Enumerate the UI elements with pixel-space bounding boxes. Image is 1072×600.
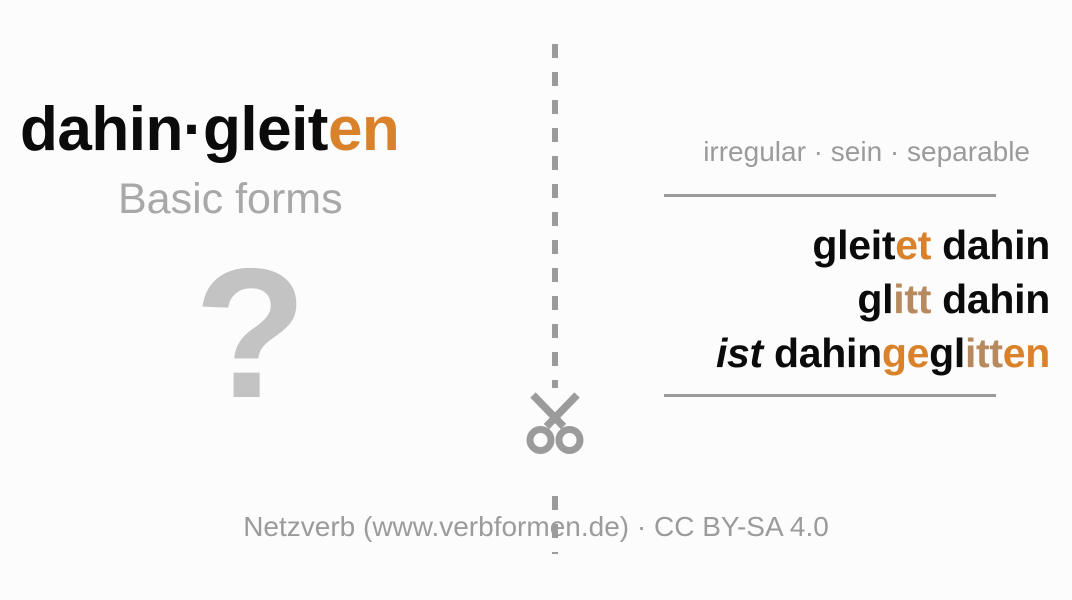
verb-title: dahin·gleiten — [20, 99, 399, 161]
verb-title-stem: dahin — [20, 95, 183, 164]
answer-side: irregular · sein · separable gleitet dah… — [600, 0, 1072, 600]
past-form: glitt dahin — [620, 272, 1050, 326]
perfect-form-seg-4: itt — [965, 330, 1003, 376]
verb-title-middle: gleit — [203, 95, 328, 164]
scissors-icon — [519, 386, 591, 458]
perfect-form-seg-3: gl — [929, 330, 965, 376]
perfect-form-seg-2: ge — [882, 330, 929, 376]
verb-title-ending: en — [328, 95, 399, 164]
verb-forms-list: gleitet dahin glitt dahin ist dahingegli… — [620, 218, 1050, 380]
footer-attribution: Netzverb (www.verbformen.de) · CC BY-SA … — [0, 513, 1072, 541]
perfect-form: ist dahingeglitten — [620, 326, 1050, 380]
page-subtitle: Basic forms — [118, 178, 343, 221]
perfect-form-seg-5: en — [1003, 330, 1050, 376]
question-side: dahin·gleiten Basic forms ? — [0, 0, 540, 600]
perfect-form-auxiliary: ist — [716, 330, 763, 376]
verb-attributes: irregular · sein · separable — [703, 138, 1030, 166]
rule-bottom — [664, 394, 996, 397]
past-form-seg-2: dahin — [931, 276, 1050, 322]
past-form-seg-0: gl — [857, 276, 893, 322]
past-form-seg-1: itt — [893, 276, 931, 322]
present-form-seg-2: dahin — [931, 222, 1050, 268]
rule-top — [664, 194, 996, 197]
present-form: gleitet dahin — [620, 218, 1050, 272]
flashcard-page: dahin·gleiten Basic forms ? irregular · … — [0, 0, 1072, 600]
verb-title-separator: · — [183, 95, 203, 164]
present-form-seg-1: et — [895, 222, 931, 268]
present-form-seg-0: gleit — [812, 222, 895, 268]
dashed-line-upper — [552, 44, 558, 388]
perfect-form-seg-1: dahin — [763, 330, 882, 376]
question-mark-placeholder: ? — [194, 242, 307, 427]
